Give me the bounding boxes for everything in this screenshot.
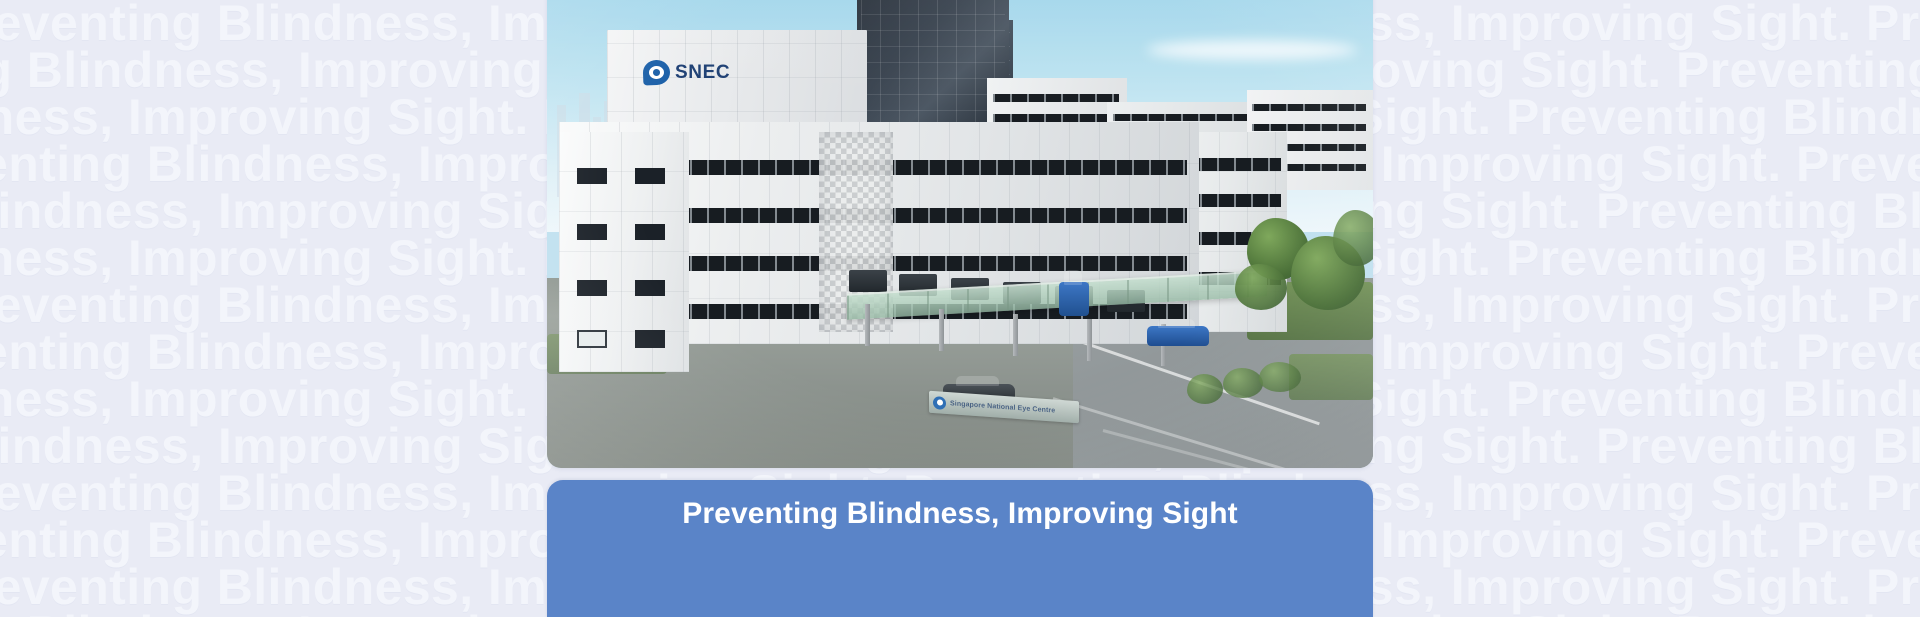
caption-banner: Preventing Blindness, Improving Sight xyxy=(547,480,1373,617)
shrub xyxy=(1187,374,1223,404)
canopy-post xyxy=(1087,319,1092,361)
entrance-sign-text: Singapore National Eye Centre xyxy=(950,400,1055,414)
snec-eye-icon xyxy=(643,60,671,86)
building-left-wing xyxy=(559,132,689,372)
tree xyxy=(1333,210,1373,266)
canopy-post xyxy=(1013,314,1018,356)
caption-title: Preventing Blindness, Improving Sight xyxy=(547,497,1373,531)
cloud xyxy=(1147,40,1357,60)
shrub xyxy=(1259,362,1301,392)
shrub xyxy=(1223,368,1263,398)
canopy-post xyxy=(865,304,870,346)
hero-card-column: SNEC SNEC xyxy=(547,0,1373,617)
car-blue xyxy=(1147,326,1209,346)
snec-eye-icon-small xyxy=(933,396,946,410)
snec-logo-top: SNEC xyxy=(643,60,730,85)
canopy-post xyxy=(939,309,944,351)
snec-wordmark: SNEC xyxy=(675,63,730,82)
grass-verge xyxy=(1289,354,1373,400)
hero-photo: SNEC SNEC xyxy=(547,0,1373,468)
tree xyxy=(1235,264,1287,310)
canopy-unit xyxy=(849,270,887,292)
car-blue-far xyxy=(1059,282,1089,316)
page-root: Preventing Blindness, Improving Sight. P… xyxy=(0,0,1920,617)
